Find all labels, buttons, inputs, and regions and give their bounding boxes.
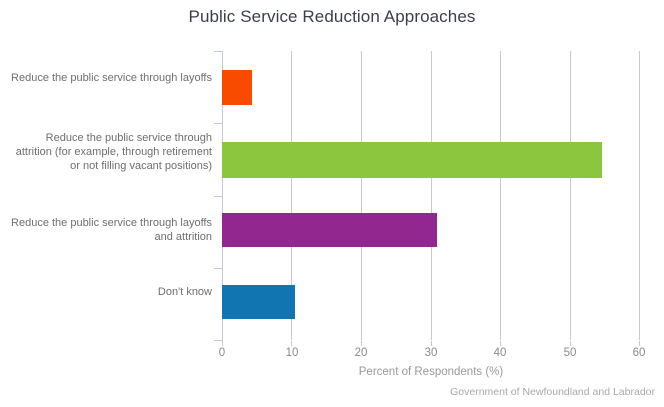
x-tick-label-20: 20 — [331, 347, 391, 359]
y-axis-tick-1 — [214, 123, 222, 124]
bar-layoffs[interactable] — [222, 70, 252, 105]
plot-area — [222, 51, 640, 340]
x-axis-tick-30 — [431, 341, 432, 346]
x-axis-tick-60 — [639, 341, 640, 346]
y-axis-tick-3 — [214, 268, 222, 269]
bar-attrition[interactable] — [222, 142, 602, 178]
gridline-20 — [361, 51, 362, 340]
category-label-3: Don't know — [7, 285, 212, 299]
x-tick-label-10: 10 — [262, 347, 322, 359]
x-axis-tick-10 — [291, 341, 292, 346]
x-axis-title: Percent of Respondents (%) — [222, 366, 640, 378]
x-tick-label-50: 50 — [540, 347, 600, 359]
y-axis-tick-bottom — [214, 340, 222, 341]
x-axis-tick-50 — [570, 341, 571, 346]
x-axis-tick-0 — [222, 341, 223, 346]
x-tick-label-40: 40 — [470, 347, 530, 359]
gridline-30 — [431, 51, 432, 340]
source-attribution: Government of Newfoundland and Labrador — [450, 386, 655, 398]
x-axis-tick-40 — [500, 341, 501, 346]
x-tick-label-0: 0 — [192, 347, 252, 359]
y-axis-tick-2 — [214, 196, 222, 197]
gridline-50 — [570, 51, 571, 340]
category-label-1: Reduce the public service through attrit… — [7, 131, 212, 173]
gridline-60 — [639, 51, 640, 340]
category-labels: Reduce the public service through layoff… — [0, 0, 212, 407]
x-tick-label-30: 30 — [401, 347, 461, 359]
bar-layoffs-and-attrition[interactable] — [222, 213, 437, 247]
x-tick-label-60: 60 — [609, 347, 664, 359]
gridline-40 — [500, 51, 501, 340]
x-axis-tick-20 — [361, 341, 362, 346]
chart-container: Public Service Reduction Approaches Redu… — [0, 0, 664, 407]
category-label-2: Reduce the public service through layoff… — [7, 216, 212, 244]
bar-dont-know[interactable] — [222, 285, 295, 319]
y-axis-tick-top — [214, 51, 222, 52]
category-label-0: Reduce the public service through layoff… — [7, 71, 212, 85]
